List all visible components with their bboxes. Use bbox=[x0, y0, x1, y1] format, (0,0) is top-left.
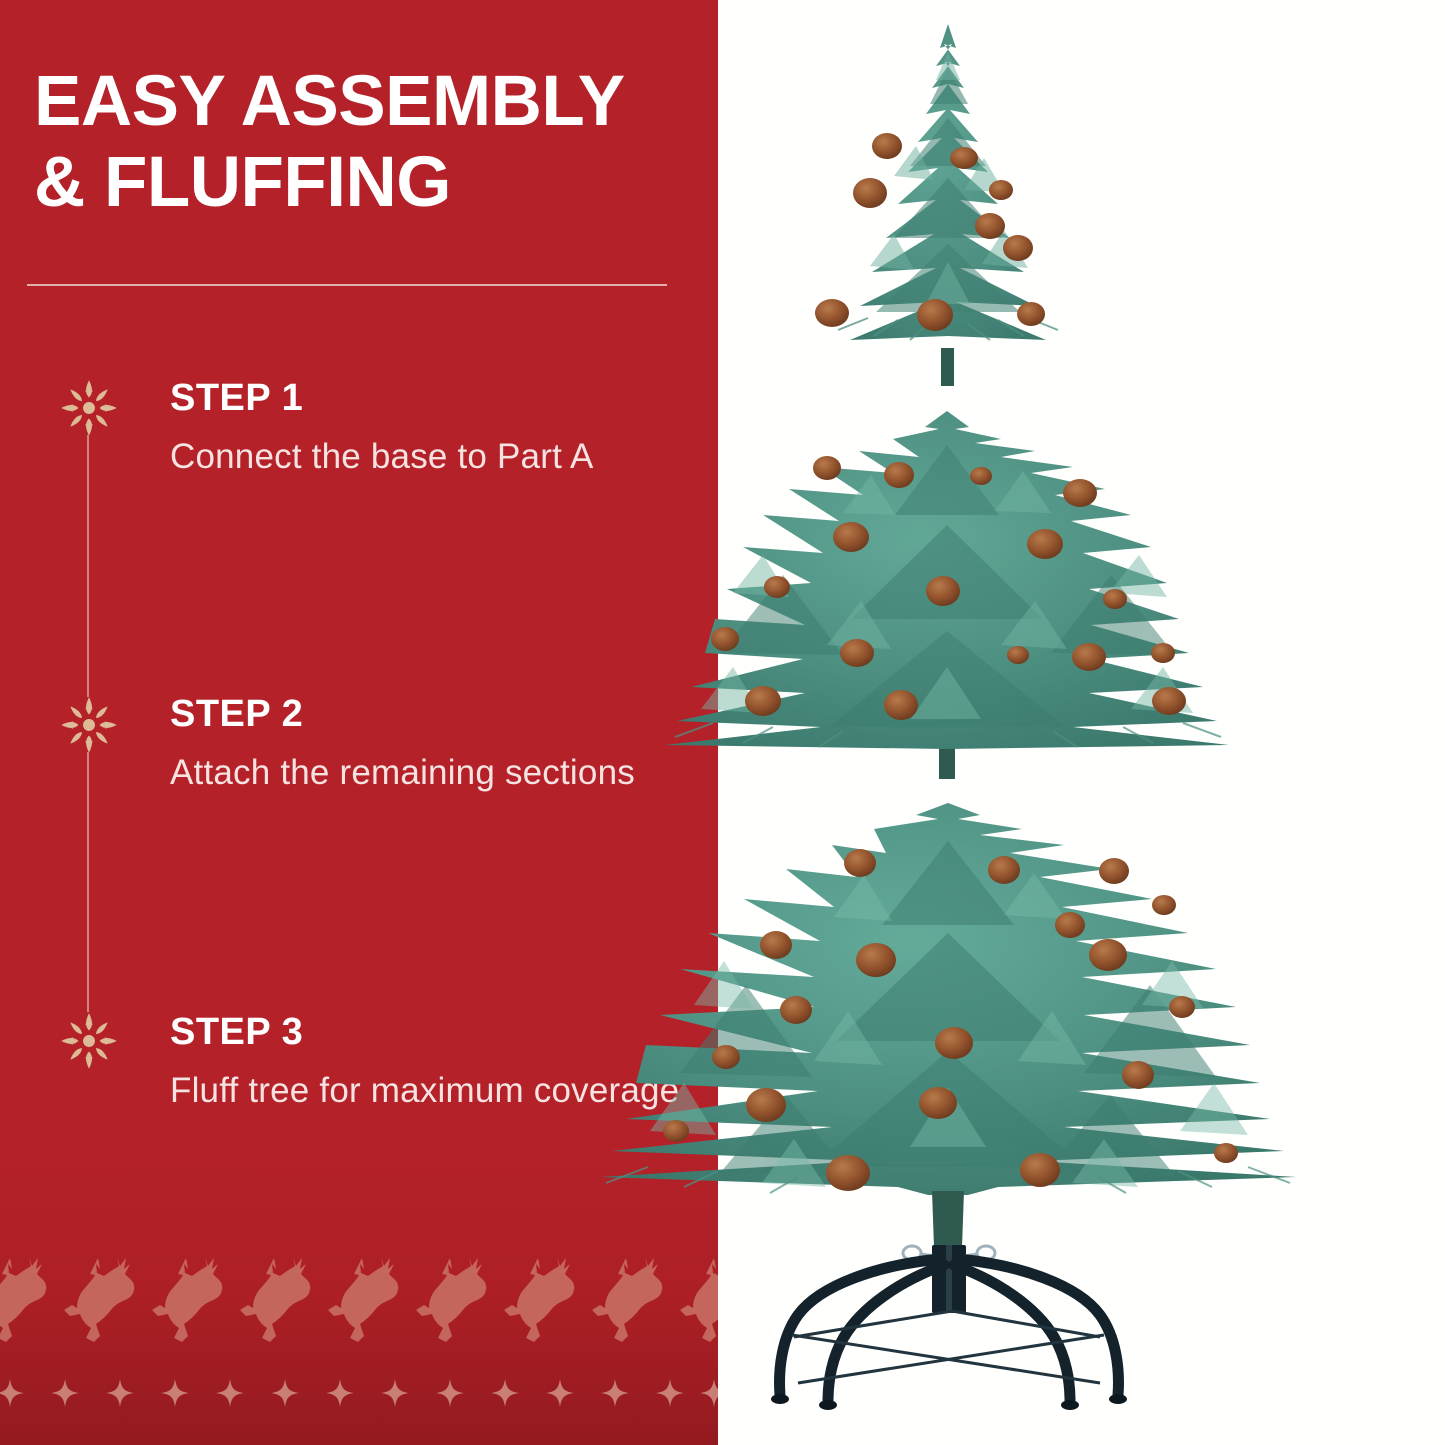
snowflake-icon bbox=[56, 1008, 122, 1074]
tree-top-section bbox=[698, 18, 1198, 388]
step-connector-line bbox=[87, 752, 89, 1012]
headline-line-2: & FLUFFING bbox=[34, 143, 684, 224]
headline-line-1: EASY ASSEMBLY bbox=[34, 62, 625, 141]
snowflake-icon bbox=[56, 375, 122, 441]
step-connector-line bbox=[87, 435, 89, 697]
product-infographic: EASY ASSEMBLY & FLUFFING bbox=[0, 0, 1445, 1445]
page-title: EASY ASSEMBLY & FLUFFING bbox=[34, 62, 684, 224]
snowflake-icon bbox=[56, 692, 122, 758]
product-image-area bbox=[718, 0, 1445, 1445]
tree-bottom-section bbox=[548, 795, 1348, 1440]
tree-middle-section bbox=[603, 405, 1293, 780]
tree-stand bbox=[771, 1245, 1127, 1410]
title-divider bbox=[27, 284, 667, 286]
